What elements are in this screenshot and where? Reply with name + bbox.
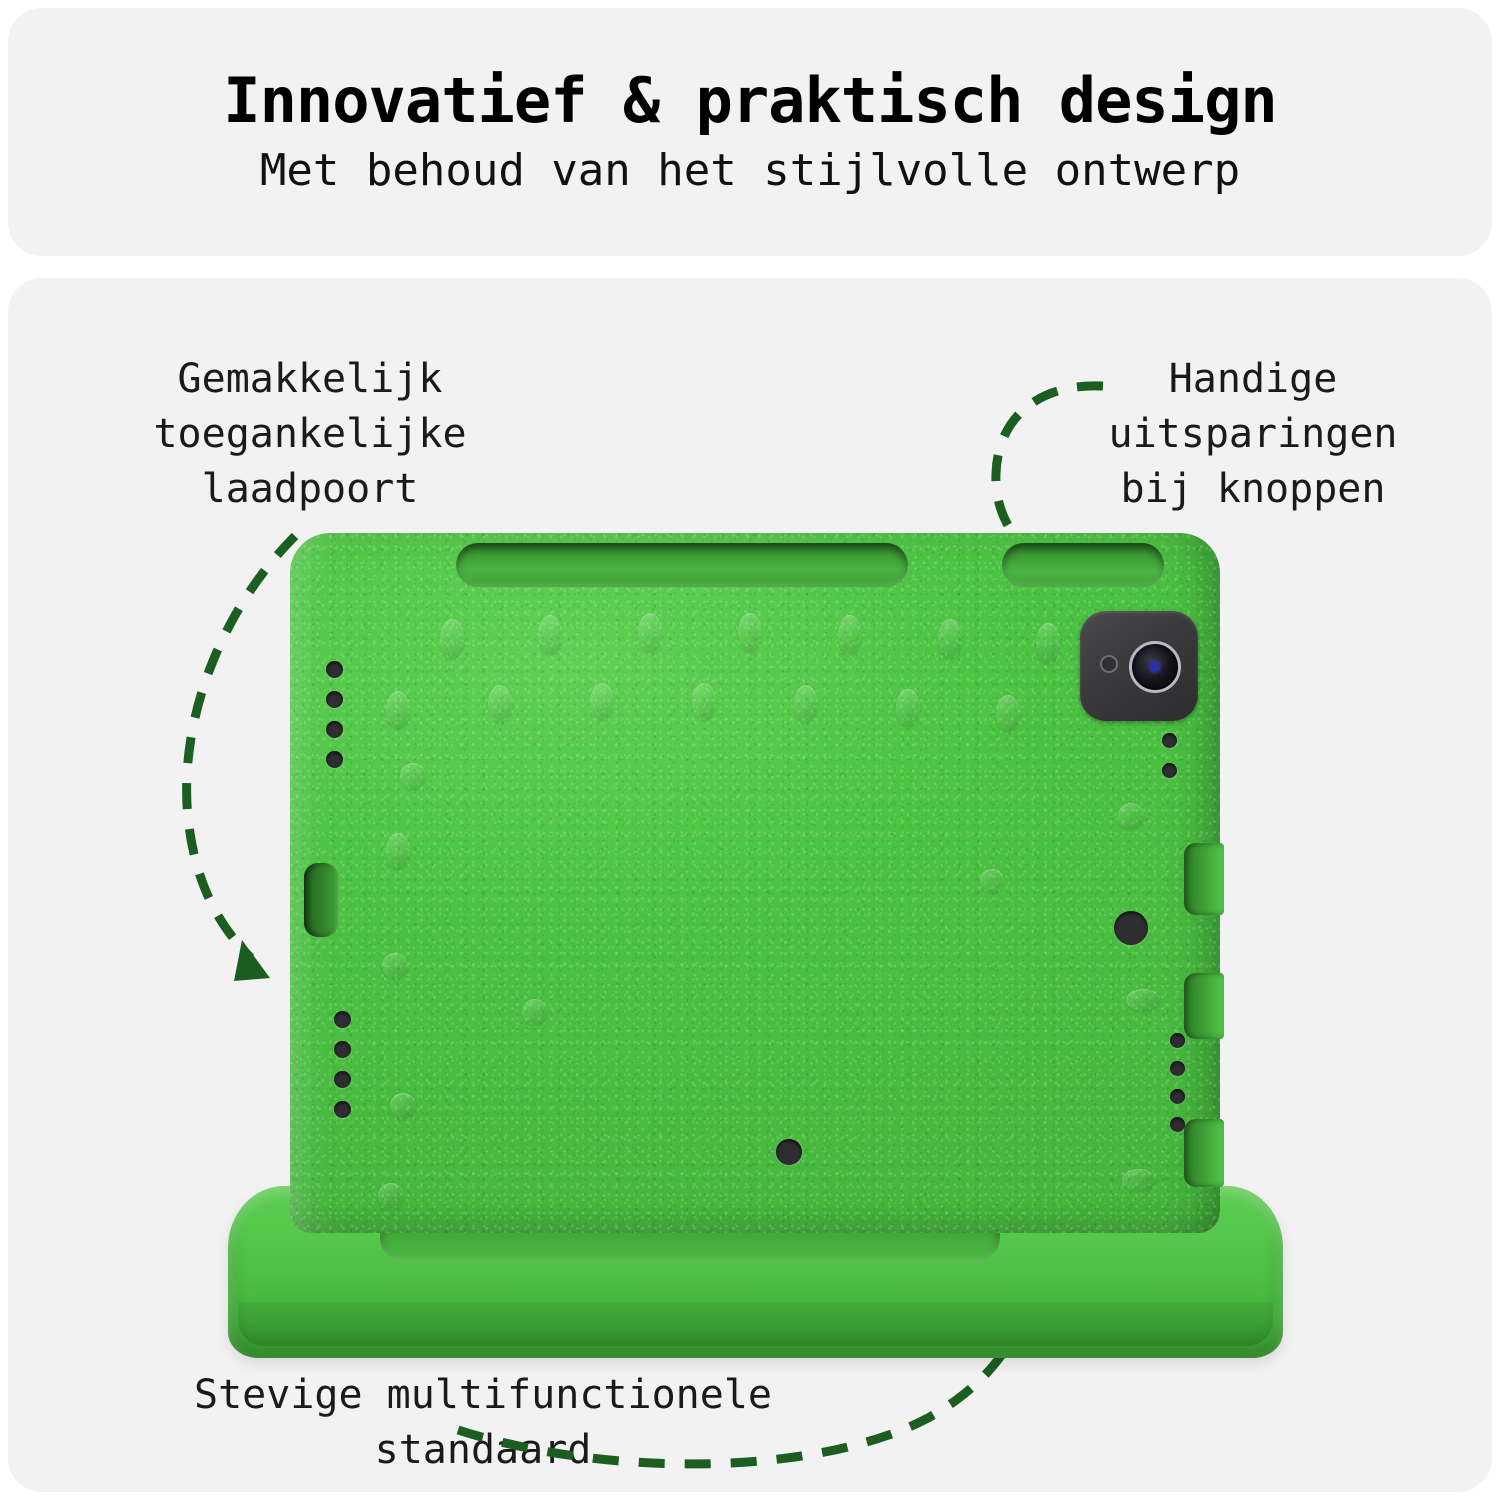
foam-dimple [1036,623,1060,663]
top-speaker-groove [456,543,908,587]
charging-port-cutout [304,863,338,937]
right-edge-notch [1184,843,1224,915]
infographic-page: Innovatief & praktisch design Met behoud… [0,0,1500,1500]
speaker-hole [1170,1033,1185,1048]
foam-dimple [488,685,512,723]
camera-lens-icon [1129,641,1181,693]
stand-bottom-lip [238,1302,1273,1346]
rear-camera-module [1080,611,1198,721]
foam-dimple [590,683,614,721]
foam-dimple [692,683,716,721]
speaker-hole [1162,733,1177,748]
speaker-hole [1170,1089,1185,1104]
foam-dimple [1118,803,1144,829]
top-button-cutout [1002,543,1164,587]
foam-dimple [980,869,1004,893]
speaker-hole [1162,763,1177,778]
speaker-hole [1170,1061,1185,1076]
speaker-hole [1170,1117,1185,1132]
speaker-hole [326,721,343,738]
case-back-panel [290,533,1220,1233]
foam-dimple [996,695,1020,733]
tablet-case-illustration [8,278,1492,1492]
foam-dimple [390,1093,416,1119]
right-edge-notch [1184,1119,1224,1187]
speaker-hole [326,751,343,768]
foam-dimple [538,615,562,655]
foam-dimple [896,689,920,727]
page-title: Innovatief & praktisch design [223,68,1277,133]
foam-dimple [838,615,862,655]
speaker-hole [334,1011,351,1028]
foam-dimple [400,763,426,789]
product-feature-card: Gemakkelijk toegankelijke laadpoort Hand… [8,278,1492,1492]
page-subtitle: Met behoud van het stijlvolle ontwerp [260,147,1240,195]
foam-dimple [938,619,962,659]
foam-dimple [794,685,818,723]
foam-dimple [522,999,548,1025]
foam-dimple [386,833,410,869]
foam-dimple [386,691,410,729]
foam-dimple [738,613,762,653]
header-card: Innovatief & praktisch design Met behoud… [8,8,1492,256]
microphone-hole [776,1139,802,1165]
speaker-hole [334,1041,351,1058]
camera-flash-icon [1100,655,1118,673]
speaker-hole [334,1071,351,1088]
foam-dimple [440,619,464,659]
foam-dimple [378,1183,404,1209]
foam-dimple [382,953,408,979]
right-edge-notch [1184,973,1224,1039]
speaker-hole [326,661,343,678]
speaker-hole [334,1101,351,1118]
foam-dimple [1126,989,1160,1011]
power-button-hole [1114,911,1148,945]
speaker-hole [326,691,343,708]
foam-dimple [1122,1169,1156,1191]
foam-dimple [638,613,662,653]
